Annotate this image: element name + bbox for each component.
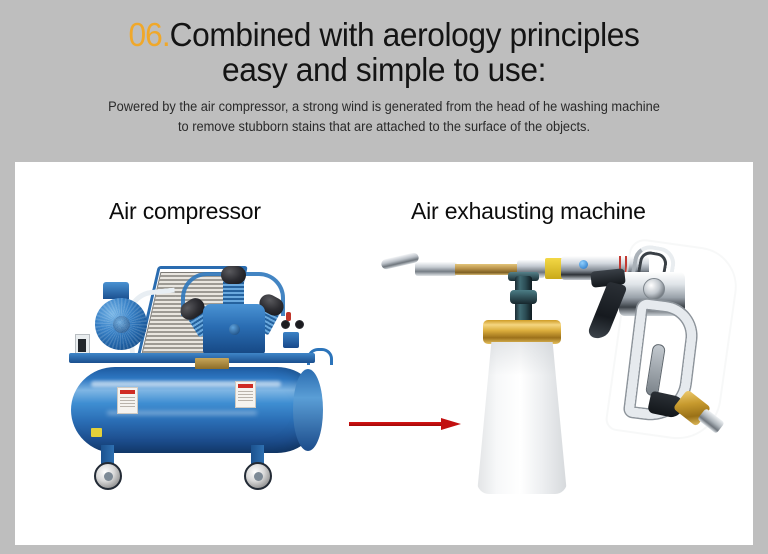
barrel-blue-indicator [579, 260, 588, 269]
tank-rail [69, 353, 315, 363]
title-line-2: easy and simple to use: [15, 53, 752, 88]
slide-page: 06.Combined with aerology principles eas… [0, 0, 768, 554]
title-line-1: 06.Combined with aerology principles [15, 18, 752, 53]
tank-warning-label-left [117, 387, 138, 414]
air-tank [71, 367, 321, 453]
pump-block [203, 304, 265, 354]
cylinder-head-center [221, 266, 246, 284]
title-line-1-text: Combined with aerology principles [170, 16, 640, 53]
bottle-shading [477, 342, 567, 494]
valve-adjust-knob [510, 290, 537, 304]
tank-end-cap [293, 369, 323, 451]
header: 06.Combined with aerology principles eas… [0, 0, 768, 160]
content-panel: Air compressor Air exhausting machine [15, 162, 753, 545]
subtitle: Powered by the air compressor, a strong … [19, 97, 749, 136]
subtitle-line-1: Powered by the air compressor, a strong … [42, 97, 726, 117]
motor-junction-box [103, 282, 129, 299]
wheel-right [244, 462, 272, 490]
motor-cooling-fins [95, 298, 147, 350]
tank-drain-tag [91, 428, 102, 437]
bottle-gold-collar [483, 320, 561, 344]
subtitle-line-2: to remove stubborn stains that are attac… [42, 117, 726, 137]
caption-air-compressor: Air compressor [109, 198, 261, 225]
wheel-left [94, 462, 122, 490]
section-number: 06. [129, 16, 170, 53]
gun-body-group [603, 246, 715, 426]
tank-nameplate [195, 358, 229, 369]
wand-chrome-sleeve [415, 262, 457, 276]
air-compressor-image [55, 242, 355, 502]
title-block: 06.Combined with aerology principles eas… [0, 0, 768, 88]
pressure-switch [283, 332, 299, 348]
gun-body-cap [643, 278, 665, 300]
tank-warning-label-right [235, 381, 256, 408]
wand-curved-tip [380, 252, 419, 270]
air-exhausting-machine-image [367, 210, 719, 522]
pressure-gauge-left [281, 320, 290, 329]
pressure-gauge-right [295, 320, 304, 329]
